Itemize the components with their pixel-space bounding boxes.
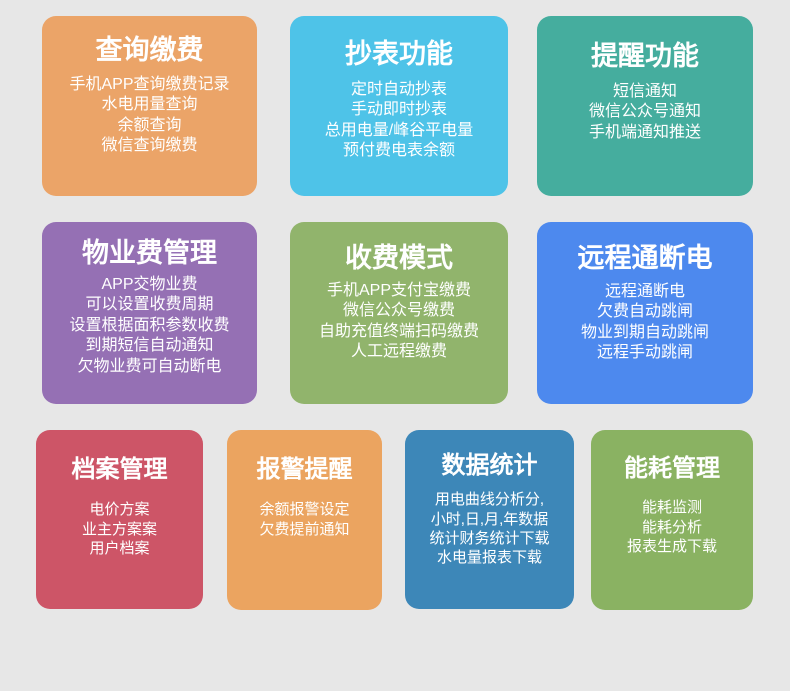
card-line-list: 短信通知 微信公众号通知 手机端通知推送 <box>537 82 753 143</box>
card-line: 预付费电表余额 <box>343 141 455 161</box>
card-line: 短信通知 <box>613 82 677 102</box>
card-title: 提醒功能 <box>591 42 699 72</box>
card-line-list: 手机APP查询缴费记录 水电用量查询 余额查询 微信查询缴费 <box>42 75 257 157</box>
card-line: 欠费提前通知 <box>259 520 349 539</box>
card-line: 手机端通知推送 <box>589 123 701 143</box>
card-line: 能耗分析 <box>642 518 702 537</box>
card-line-list: 远程通断电 欠费自动跳闸 物业到期自动跳闸 远程手动跳闸 <box>537 282 753 364</box>
card-title: 能耗管理 <box>624 456 720 482</box>
feature-card-energy[interactable]: 能耗管理 能耗监测 能耗分析 报表生成下载 <box>591 430 753 610</box>
card-line-list: 手机APP支付宝缴费 微信公众号缴费 自助充值终端扫码缴费 人工远程缴费 <box>290 281 508 363</box>
card-line: 水电用量查询 <box>101 95 197 115</box>
feature-card-property-fee[interactable]: 物业费管理 APP交物业费 可以设置收费周期 设置根据面积参数收费 到期短信自动… <box>42 222 257 404</box>
card-line: 自助充值终端扫码缴费 <box>319 322 479 342</box>
card-line: 远程通断电 <box>605 282 685 302</box>
card-line: 远程手动跳闸 <box>597 343 693 363</box>
card-title: 物业费管理 <box>82 239 217 269</box>
feature-card-reminder[interactable]: 提醒功能 短信通知 微信公众号通知 手机端通知推送 <box>537 16 753 196</box>
card-line: APP交物业费 <box>101 275 197 295</box>
card-line: 手机APP查询缴费记录 <box>69 75 229 95</box>
card-line: 用户档案 <box>89 539 149 558</box>
card-line: 水电量报表下载 <box>437 548 542 567</box>
card-line: 可以设置收费周期 <box>85 295 213 315</box>
card-line: 人工远程缴费 <box>351 342 447 362</box>
card-line: 小时,日,月,年数据 <box>431 510 549 529</box>
card-line: 微信公众号缴费 <box>343 301 455 321</box>
feature-card-meter-reading[interactable]: 抄表功能 定时自动抄表 手动即时抄表 总用电量/峰谷平电量 预付费电表余额 <box>290 16 508 196</box>
card-line-list: 余额报警设定 欠费提前通知 <box>227 500 382 538</box>
feature-card-remote-power[interactable]: 远程通断电 远程通断电 欠费自动跳闸 物业到期自动跳闸 远程手动跳闸 <box>537 222 753 404</box>
feature-card-query-payment[interactable]: 查询缴费 手机APP查询缴费记录 水电用量查询 余额查询 微信查询缴费 <box>42 16 257 196</box>
card-line-list: 能耗监测 能耗分析 报表生成下载 <box>591 498 753 556</box>
card-line: 余额报警设定 <box>259 500 349 519</box>
card-title: 数据统计 <box>442 453 538 479</box>
card-line: 总用电量/峰谷平电量 <box>325 121 473 141</box>
card-line: 欠物业费可自动断电 <box>77 357 221 377</box>
card-line: 手动即时抄表 <box>351 100 447 120</box>
card-line: 电价方案 <box>89 500 149 519</box>
card-line: 报表生成下载 <box>627 537 717 556</box>
card-title: 抄表功能 <box>345 40 453 70</box>
feature-card-statistics[interactable]: 数据统计 用电曲线分析分, 小时,日,月,年数据 统计财务统计下载 水电量报表下… <box>405 430 574 609</box>
card-line: 欠费自动跳闸 <box>597 302 693 322</box>
card-line-list: 定时自动抄表 手动即时抄表 总用电量/峰谷平电量 预付费电表余额 <box>290 80 508 162</box>
card-title: 查询缴费 <box>96 36 204 66</box>
feature-card-alarm[interactable]: 报警提醒 余额报警设定 欠费提前通知 <box>227 430 382 610</box>
card-line: 用电曲线分析分, <box>435 490 544 509</box>
card-line: 微信查询缴费 <box>101 136 197 156</box>
card-line: 余额查询 <box>117 116 181 136</box>
card-line: 设置根据面积参数收费 <box>69 316 229 336</box>
card-line: 手机APP支付宝缴费 <box>327 281 471 301</box>
card-line-list: APP交物业费 可以设置收费周期 设置根据面积参数收费 到期短信自动通知 欠物业… <box>42 275 257 377</box>
card-line: 定时自动抄表 <box>351 80 447 100</box>
feature-card-charging-mode[interactable]: 收费模式 手机APP支付宝缴费 微信公众号缴费 自助充值终端扫码缴费 人工远程缴… <box>290 222 508 404</box>
card-line-list: 电价方案 业主方案案 用户档案 <box>36 500 203 558</box>
card-title: 报警提醒 <box>257 457 353 483</box>
card-line: 到期短信自动通知 <box>85 336 213 356</box>
card-title: 远程通断电 <box>578 244 713 274</box>
card-title: 收费模式 <box>345 244 453 274</box>
feature-card-board: 查询缴费 手机APP查询缴费记录 水电用量查询 余额查询 微信查询缴费 抄表功能… <box>0 0 790 691</box>
card-line-list: 用电曲线分析分, 小时,日,月,年数据 统计财务统计下载 水电量报表下载 <box>405 490 574 567</box>
card-line: 微信公众号通知 <box>589 102 701 122</box>
card-title: 档案管理 <box>72 457 168 483</box>
card-line: 能耗监测 <box>642 498 702 517</box>
feature-card-archive[interactable]: 档案管理 电价方案 业主方案案 用户档案 <box>36 430 203 609</box>
card-line: 物业到期自动跳闸 <box>581 323 709 343</box>
card-line: 统计财务统计下载 <box>429 529 549 548</box>
card-line: 业主方案案 <box>82 520 157 539</box>
